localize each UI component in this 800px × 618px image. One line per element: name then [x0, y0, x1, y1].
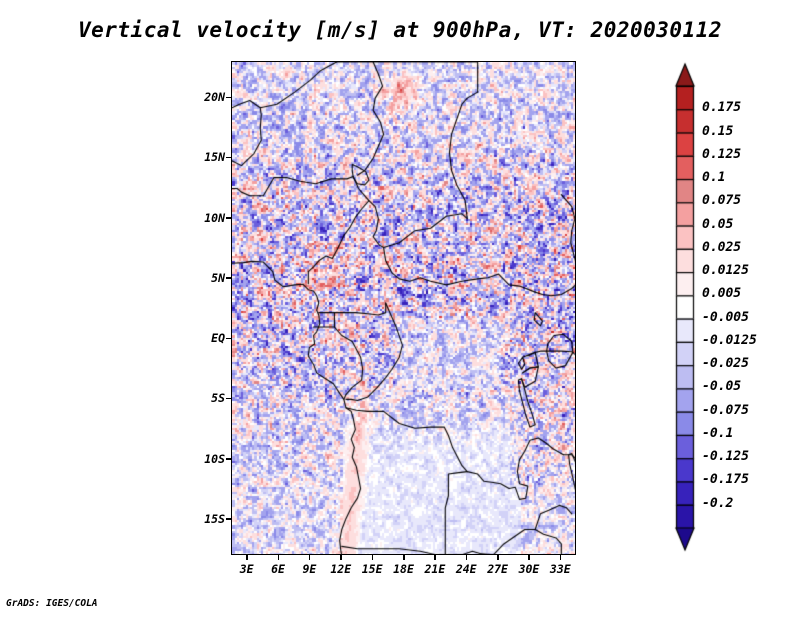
- y-axis-tick: [226, 458, 231, 460]
- colorbar: 0.1750.150.1250.10.0750.050.0250.01250.0…: [660, 58, 800, 558]
- colorbar-tick-label: -0.05: [702, 379, 741, 394]
- x-axis-tick: [403, 555, 405, 560]
- x-axis-tick-label: 33E: [540, 562, 580, 576]
- y-axis-tick-label: 15S: [183, 512, 225, 526]
- page-title: Vertical velocity [m/s] at 900hPa, VT: 2…: [0, 18, 800, 42]
- colorbar-tick-label: 0.025: [702, 240, 741, 255]
- x-axis-tick: [434, 555, 436, 560]
- y-axis-tick-label: EQ: [183, 331, 225, 345]
- y-axis-tick: [226, 277, 231, 279]
- colorbar-tick-label: -0.1: [702, 426, 733, 441]
- x-axis-tick: [309, 555, 311, 560]
- y-axis-tick: [226, 157, 231, 159]
- colorbar-tick-label: -0.125: [702, 449, 749, 464]
- y-axis-tick: [226, 338, 231, 340]
- y-axis-tick: [226, 518, 231, 520]
- x-axis-tick: [246, 555, 248, 560]
- colorbar-tick-label: 0.1: [702, 170, 725, 185]
- grads-plot-page: Vertical velocity [m/s] at 900hPa, VT: 2…: [0, 0, 800, 618]
- colorbar-tick-label: -0.075: [702, 403, 749, 418]
- colorbar-tick-label: 0.05: [702, 217, 733, 232]
- y-axis-tick: [226, 398, 231, 400]
- y-axis-tick-label: 10N: [183, 211, 225, 225]
- grads-attribution: GrADS: IGES/COLA: [6, 598, 98, 609]
- y-axis-tick-label: 10S: [183, 452, 225, 466]
- colorbar-tick-label: 0.005: [702, 286, 741, 301]
- y-axis-tick-label: 5S: [183, 391, 225, 405]
- colorbar-tick-label: 0.0125: [702, 263, 749, 278]
- country-borders-overlay: [232, 62, 576, 555]
- colorbar-tick-label: -0.2: [702, 496, 733, 511]
- y-axis-tick: [226, 97, 231, 99]
- colorbar-tick-label: -0.0125: [702, 333, 757, 348]
- colorbar-tick-label: -0.175: [702, 472, 749, 487]
- x-axis-tick: [497, 555, 499, 560]
- colorbar-tick-label: 0.125: [702, 147, 741, 162]
- x-axis-tick: [340, 555, 342, 560]
- y-axis-tick-label: 15N: [183, 150, 225, 164]
- colorbar-tick-label: 0.175: [702, 100, 741, 115]
- map-plot-area: [231, 61, 576, 555]
- colorbar-tick-label: 0.15: [702, 124, 733, 139]
- x-axis-tick: [278, 555, 280, 560]
- y-axis-tick-label: 5N: [183, 271, 225, 285]
- x-axis-tick: [372, 555, 374, 560]
- colorbar-tick-label: -0.005: [702, 310, 749, 325]
- x-axis-tick: [560, 555, 562, 560]
- colorbar-tick-label: 0.075: [702, 193, 741, 208]
- x-axis-tick: [466, 555, 468, 560]
- y-axis-tick: [226, 217, 231, 219]
- colorbar-tick-label: -0.025: [702, 356, 749, 371]
- x-axis-tick: [528, 555, 530, 560]
- y-axis-tick-label: 20N: [183, 90, 225, 104]
